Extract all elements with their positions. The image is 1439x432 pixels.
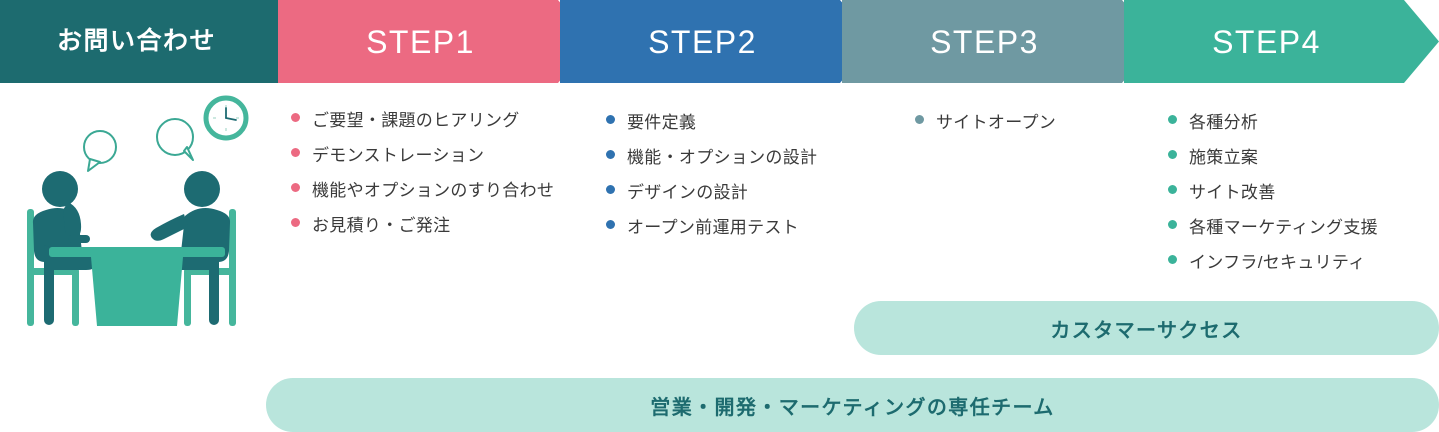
bullet-dot-icon [1168, 150, 1177, 159]
step2-items: 要件定義 機能・オプションの設計 デザインの設計 オープン前運用テスト [606, 105, 817, 245]
bullet-dot-icon [1168, 185, 1177, 194]
bullet-dot-icon [1168, 255, 1177, 264]
bullet-dot-icon [291, 183, 300, 192]
list-item-label: サイト改善 [1189, 175, 1276, 210]
chevron-label-step4: STEP4 [1212, 26, 1351, 58]
chevron-step2[interactable]: STEP2 [560, 0, 875, 83]
chevron-label-step1: STEP1 [366, 26, 505, 58]
list-item-label: デモンストレーション [312, 138, 484, 173]
bullet-dot-icon [291, 148, 300, 157]
list-item-label: 各種マーケティング支援 [1189, 210, 1378, 245]
column-step1: ご要望・課題のヒアリング デモンストレーション 機能やオプションのすり合わせ お… [291, 103, 554, 243]
chevron-label-contact: お問い合わせ [57, 29, 258, 54]
chevron-step3[interactable]: STEP3 [842, 0, 1157, 83]
step3-items: サイトオープン [915, 105, 1056, 140]
list-item: 各種分析 [1168, 105, 1378, 140]
list-item: 各種マーケティング支援 [1168, 210, 1378, 245]
list-item: お見積り・ご発注 [291, 208, 554, 243]
list-item: サイトオープン [915, 105, 1056, 140]
list-item: デモンストレーション [291, 138, 554, 173]
bullet-dot-icon [606, 115, 615, 124]
bullet-dot-icon [606, 185, 615, 194]
list-item: ご要望・課題のヒアリング [291, 103, 554, 138]
list-item-label: ご要望・課題のヒアリング [312, 103, 520, 138]
list-item-label: サイトオープン [936, 105, 1056, 140]
list-item-label: インフラ/セキュリティ [1189, 245, 1366, 280]
bullet-dot-icon [606, 150, 615, 159]
list-item: オープン前運用テスト [606, 210, 817, 245]
list-item: デザインの設計 [606, 175, 817, 210]
bullet-dot-icon [915, 115, 924, 124]
list-item-label: 機能・オプションの設計 [627, 140, 817, 175]
chevron-contact[interactable]: お問い合わせ [0, 0, 315, 83]
list-item: 施策立案 [1168, 140, 1378, 175]
list-item: 要件定義 [606, 105, 817, 140]
column-step4: 各種分析 施策立案 サイト改善 各種マーケティング支援 インフラ/セキュリティ [1168, 105, 1378, 280]
step1-items: ご要望・課題のヒアリング デモンストレーション 機能やオプションのすり合わせ お… [291, 103, 554, 243]
chevron-step1[interactable]: STEP1 [278, 0, 593, 83]
list-item-label: 各種分析 [1189, 105, 1258, 140]
dedicated-team-banner: 営業・開発・マーケティングの専任チーム [266, 378, 1439, 432]
list-item-label: お見積り・ご発注 [312, 208, 450, 243]
bullet-dot-icon [606, 220, 615, 229]
bullet-dot-icon [291, 218, 300, 227]
list-item-label: 要件定義 [627, 105, 696, 140]
bullet-dot-icon [1168, 115, 1177, 124]
customer-success-label: カスタマーサクセス [1050, 314, 1242, 343]
chevron-step4[interactable]: STEP4 [1124, 0, 1439, 83]
process-flow-diagram: お問い合わせ STEP1 STEP2 STEP3 STEP4 [0, 0, 1439, 432]
step-chevron-bar: お問い合わせ STEP1 STEP2 STEP3 STEP4 [0, 0, 1439, 83]
list-item: 機能・オプションの設計 [606, 140, 817, 175]
list-item-label: デザインの設計 [627, 175, 748, 210]
list-item-label: 施策立案 [1189, 140, 1258, 175]
bullet-dot-icon [1168, 220, 1177, 229]
column-step3: サイトオープン [915, 105, 1056, 140]
column-step2: 要件定義 機能・オプションの設計 デザインの設計 オープン前運用テスト [606, 105, 817, 245]
step4-items: 各種分析 施策立案 サイト改善 各種マーケティング支援 インフラ/セキュリティ [1168, 105, 1378, 280]
chevron-label-step3: STEP3 [930, 26, 1069, 58]
list-item: インフラ/セキュリティ [1168, 245, 1378, 280]
list-item: サイト改善 [1168, 175, 1378, 210]
chevron-label-step2: STEP2 [648, 26, 787, 58]
dedicated-team-label: 営業・開発・マーケティングの専任チーム [650, 391, 1054, 420]
list-item-label: 機能やオプションのすり合わせ [312, 173, 554, 208]
list-item-label: オープン前運用テスト [627, 210, 799, 245]
bullet-dot-icon [291, 113, 300, 122]
customer-success-banner: カスタマーサクセス [854, 301, 1439, 355]
step-detail-columns: ご要望・課題のヒアリング デモンストレーション 機能やオプションのすり合わせ お… [0, 83, 1439, 293]
list-item: 機能やオプションのすり合わせ [291, 173, 554, 208]
